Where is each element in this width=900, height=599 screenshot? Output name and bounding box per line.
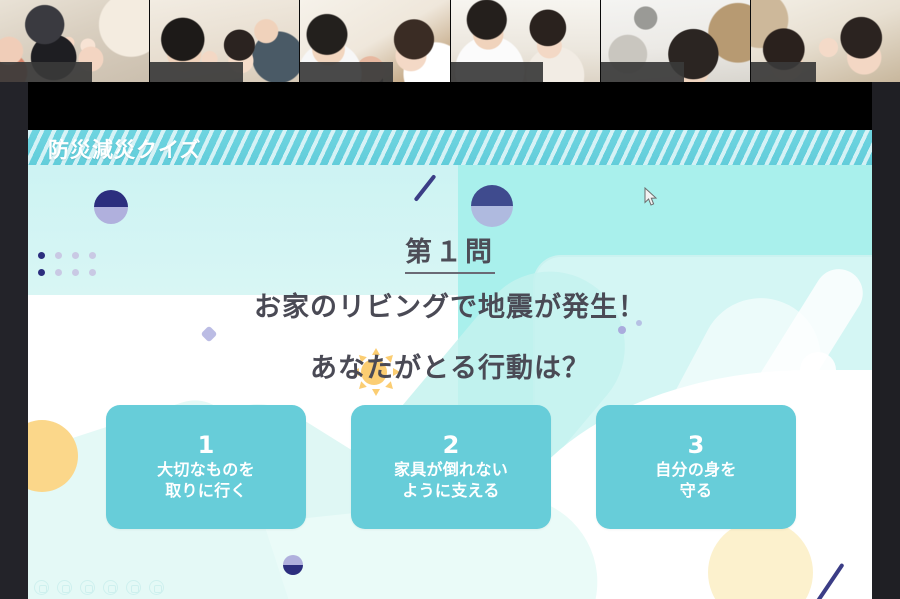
banner-title: 防災減災クイズ xyxy=(48,134,201,164)
shared-slide[interactable]: 防災減災クイズ 第１問 お家のリビングで地震が発生！ あなたがとる行動は？ 1 … xyxy=(28,130,872,599)
participant-tile[interactable] xyxy=(0,0,150,82)
answer-option-2-number: 2 xyxy=(443,433,460,458)
overlay-icon-undo[interactable] xyxy=(34,580,49,595)
answer-option-3-line1: 自分の身を xyxy=(655,460,737,481)
participant-name-bar xyxy=(0,62,92,82)
overlay-icon-pen[interactable] xyxy=(80,580,95,595)
participant-tile[interactable] xyxy=(601,0,751,82)
answer-option-2[interactable]: 2 家具が倒れない ように支える xyxy=(351,405,551,529)
question-line-2: あなたがとる行動は？ xyxy=(28,346,872,385)
slide-content: 第１問 お家のリビングで地震が発生！ あなたがとる行動は？ 1 大切なものを 取… xyxy=(28,130,872,599)
participant-name-bar xyxy=(150,62,242,82)
participant-name-bar xyxy=(300,62,392,82)
overlay-icon-zoom[interactable] xyxy=(126,580,141,595)
participant-tile[interactable] xyxy=(150,0,300,82)
question-number: 第１問 xyxy=(28,230,872,274)
slide-overlay-toolbar[interactable] xyxy=(34,580,164,595)
answer-option-3-number: 3 xyxy=(688,433,705,458)
participant-filmstrip xyxy=(0,0,900,82)
participant-name-bar xyxy=(451,62,543,82)
participant-tile[interactable] xyxy=(451,0,601,82)
answer-option-3-line2: 守る xyxy=(680,481,713,502)
answer-options: 1 大切なものを 取りに行く 2 家具が倒れない ように支える 3 自分の身を … xyxy=(106,405,796,529)
answer-option-1-line2: 取りに行く xyxy=(165,481,247,502)
participant-tile[interactable] xyxy=(751,0,900,82)
overlay-icon-stamp[interactable] xyxy=(103,580,118,595)
overlay-icon-redo[interactable] xyxy=(57,580,72,595)
screenshare-window: 防災減災クイズ 第１問 お家のリビングで地震が発生！ あなたがとる行動は？ 1 … xyxy=(0,0,900,599)
answer-option-3[interactable]: 3 自分の身を 守る xyxy=(596,405,796,529)
participant-name-bar xyxy=(751,62,817,82)
question-number-label: 第１問 xyxy=(405,230,495,274)
answer-option-2-line2: ように支える xyxy=(402,481,499,502)
participant-tile[interactable] xyxy=(300,0,450,82)
slide-banner: 防災減災クイズ xyxy=(28,130,872,165)
question-line-1: お家のリビングで地震が発生！ xyxy=(28,285,872,324)
arrow-pointer-icon xyxy=(644,187,658,207)
screenshare-top-gap xyxy=(28,82,872,130)
answer-option-1[interactable]: 1 大切なものを 取りに行く xyxy=(106,405,306,529)
letterbox-right xyxy=(872,82,900,599)
answer-option-1-number: 1 xyxy=(198,433,215,458)
participant-name-bar xyxy=(601,62,685,82)
answer-option-2-line1: 家具が倒れない xyxy=(394,460,508,481)
overlay-icon-more[interactable] xyxy=(149,580,164,595)
letterbox-left xyxy=(0,82,28,599)
answer-option-1-line1: 大切なものを xyxy=(157,460,255,481)
mouse-cursor xyxy=(644,187,658,211)
